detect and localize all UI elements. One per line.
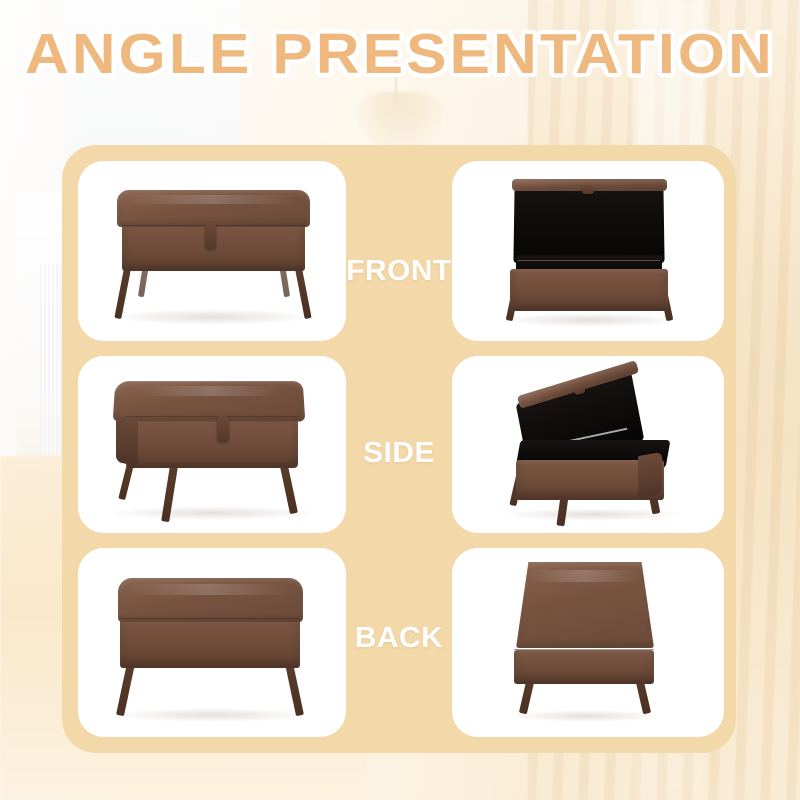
product-image-side-open bbox=[452, 356, 724, 533]
lid-highlight bbox=[128, 584, 293, 595]
product-image-side-closed bbox=[78, 356, 346, 533]
floor-shadow bbox=[108, 506, 316, 520]
lid-highlight bbox=[136, 386, 286, 396]
lid-latch bbox=[582, 185, 594, 194]
strap-pull bbox=[217, 416, 229, 442]
ottoman-right-side bbox=[638, 452, 662, 498]
product-image-front-open bbox=[452, 161, 724, 341]
floor-shadow bbox=[500, 313, 680, 327]
lid-seam bbox=[514, 649, 654, 650]
floor-shadow bbox=[110, 309, 315, 325]
product-card-front-open[interactable] bbox=[452, 161, 724, 341]
ottoman-body bbox=[126, 418, 298, 468]
lid-seam bbox=[126, 416, 298, 417]
strap-pull bbox=[205, 223, 216, 249]
ottoman-body bbox=[514, 650, 654, 684]
lid-highlight bbox=[124, 195, 300, 204]
product-card-back-closed[interactable] bbox=[78, 548, 346, 737]
card-grid bbox=[0, 0, 800, 800]
ottoman-body bbox=[120, 618, 300, 668]
product-image-back-closed bbox=[78, 548, 346, 737]
lid-interior-panel bbox=[513, 185, 664, 263]
product-card-back-profile[interactable] bbox=[452, 548, 724, 737]
lid-seam bbox=[120, 618, 300, 619]
interior-rim-highlight bbox=[518, 260, 660, 261]
lid-highlight bbox=[528, 570, 640, 582]
ottoman-body bbox=[510, 269, 668, 311]
product-image-front-closed bbox=[78, 161, 346, 341]
product-card-front-closed[interactable] bbox=[78, 161, 346, 341]
presentation-canvas: ANGLE PRESENTATION FRONT SIDE BACK bbox=[0, 0, 800, 800]
floor-shadow bbox=[112, 708, 312, 722]
product-image-back-profile bbox=[452, 548, 724, 737]
floor-shadow bbox=[512, 710, 662, 722]
product-card-side-closed[interactable] bbox=[78, 356, 346, 533]
product-card-side-open[interactable] bbox=[452, 356, 724, 533]
